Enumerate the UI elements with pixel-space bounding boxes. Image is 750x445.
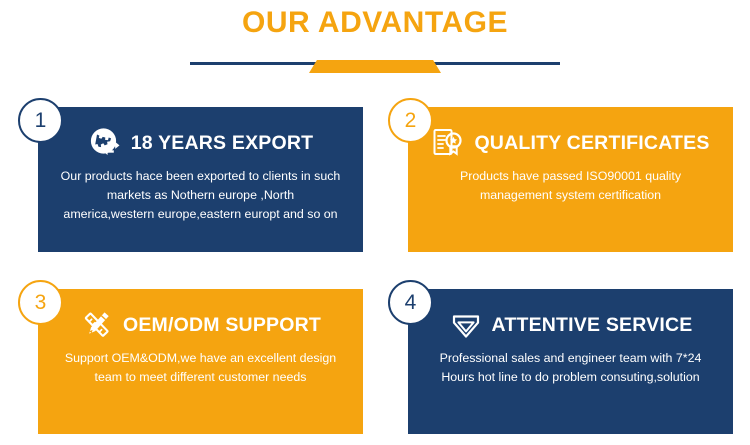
advantage-card[interactable]: QUALITY CERTIFICATES Products have passe… xyxy=(388,98,733,252)
advantage-card[interactable]: 18 YEARS EXPORT Our products hace been e… xyxy=(18,98,363,252)
card-title: 18 YEARS EXPORT xyxy=(131,132,314,155)
card-body: Professional sales and engineer team wit… xyxy=(424,349,717,387)
card-panel: QUALITY CERTIFICATES Products have passe… xyxy=(408,107,733,252)
header: OUR ADVANTAGE xyxy=(0,0,750,78)
diamond-icon xyxy=(449,308,483,342)
card-number-badge: 1 xyxy=(18,98,63,143)
advantage-card[interactable]: ATTENTIVE SERVICE Professional sales and… xyxy=(388,280,733,434)
advantage-card[interactable]: OEM/ODM SUPPORT Support OEM&ODM,we have … xyxy=(18,280,363,434)
title-divider xyxy=(190,52,560,78)
card-title: QUALITY CERTIFICATES xyxy=(474,132,709,155)
page-title: OUR ADVANTAGE xyxy=(0,2,750,44)
card-header: 18 YEARS EXPORT xyxy=(54,121,347,165)
card-header: OEM/ODM SUPPORT xyxy=(54,303,347,347)
card-body: Support OEM&ODM,we have an excellent des… xyxy=(54,349,347,387)
card-number-badge: 2 xyxy=(388,98,433,143)
certificate-icon xyxy=(431,126,465,160)
card-number-badge: 3 xyxy=(18,280,63,325)
globe-export-icon xyxy=(88,126,122,160)
card-title: OEM/ODM SUPPORT xyxy=(123,314,321,337)
pencil-ruler-icon xyxy=(80,308,114,342)
card-body: Our products hace been exported to clien… xyxy=(54,167,347,224)
card-header: QUALITY CERTIFICATES xyxy=(424,121,717,165)
card-panel: 18 YEARS EXPORT Our products hace been e… xyxy=(38,107,363,252)
card-title: ATTENTIVE SERVICE xyxy=(492,314,693,337)
card-header: ATTENTIVE SERVICE xyxy=(424,303,717,347)
card-body: Products have passed ISO90001 quality ma… xyxy=(424,167,717,205)
card-panel: OEM/ODM SUPPORT Support OEM&ODM,we have … xyxy=(38,289,363,434)
card-number-badge: 4 xyxy=(388,280,433,325)
card-panel: ATTENTIVE SERVICE Professional sales and… xyxy=(408,289,733,434)
divider-trapezoid-icon xyxy=(309,60,441,73)
advantage-card-grid: 18 YEARS EXPORT Our products hace been e… xyxy=(0,96,750,445)
